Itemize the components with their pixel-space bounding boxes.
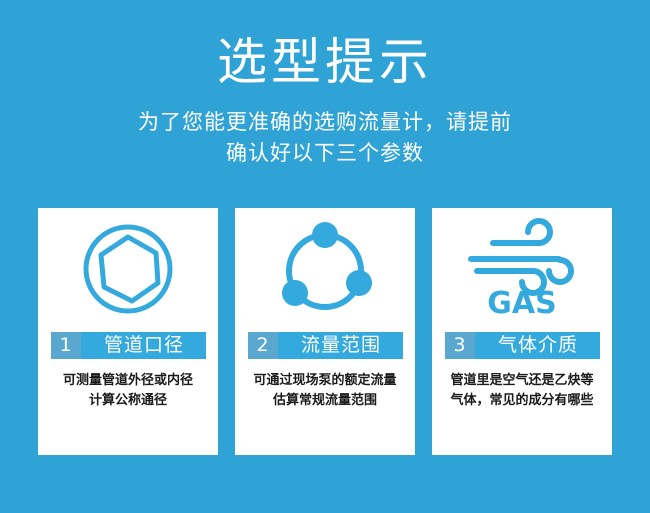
card-number-badge: 1 [51, 332, 81, 359]
card-description: 可通过现场泵的额定流量 估算常规流量范围 [245, 370, 405, 410]
card-title: 流量范围 [278, 332, 403, 359]
card-description-line-1: 可测量管道外径或内径 [48, 370, 208, 390]
card-number-badge: 3 [445, 332, 475, 359]
page-subtitle: 为了您能更准确的选购流量计，请提前 确认好以下三个参数 [0, 92, 650, 170]
card-icon-container: GAS [432, 208, 612, 330]
tip-card-flow-range[interactable]: 2 流量范围 可通过现场泵的额定流量 估算常规流量范围 [235, 208, 415, 455]
card-label-bar: 2 流量范围 [248, 332, 403, 359]
card-label-bar: 1 管道口径 [51, 332, 206, 359]
card-description-line-1: 可通过现场泵的额定流量 [245, 370, 405, 390]
banner-header: 选型提示 为了您能更准确的选购流量计，请提前 确认好以下三个参数 [0, 0, 650, 170]
card-number-badge: 2 [248, 332, 278, 359]
tip-card-pipe-diameter[interactable]: 1 管道口径 可测量管道外径或内径 计算公称通径 [38, 208, 218, 455]
card-description-line-2: 估算常规流量范围 [245, 390, 405, 410]
card-description: 可测量管道外径或内径 计算公称通径 [48, 370, 208, 410]
card-description-line-2: 计算公称通径 [48, 390, 208, 410]
gas-medium-icon: GAS [463, 217, 581, 321]
card-icon-container [38, 208, 218, 330]
gas-label: GAS [487, 286, 556, 321]
tips-card-list: 1 管道口径 可测量管道外径或内径 计算公称通径 2 流量范围 [38, 208, 612, 455]
card-title: 气体介质 [475, 332, 600, 359]
card-description-line-2: 气体，常见的成分有哪些 [442, 390, 602, 410]
card-icon-container [235, 208, 415, 330]
flow-range-icon [277, 221, 373, 317]
card-label-bar: 3 气体介质 [445, 332, 600, 359]
subtitle-line-2: 确认好以下三个参数 [0, 138, 650, 170]
subtitle-line-1: 为了您能更准确的选购流量计，请提前 [0, 107, 650, 139]
card-description-line-1: 管道里是空气还是乙炔等 [442, 370, 602, 390]
selection-tips-banner: 选型提示 为了您能更准确的选购流量计，请提前 确认好以下三个参数 1 管道口径 … [0, 0, 650, 513]
page-title: 选型提示 [0, 0, 650, 92]
tip-card-gas-medium[interactable]: GAS 3 气体介质 管道里是空气还是乙炔等 气体，常见的成分有哪些 [432, 208, 612, 455]
card-title: 管道口径 [81, 332, 206, 359]
card-description: 管道里是空气还是乙炔等 气体，常见的成分有哪些 [442, 370, 602, 410]
pipe-diameter-icon [80, 221, 176, 317]
